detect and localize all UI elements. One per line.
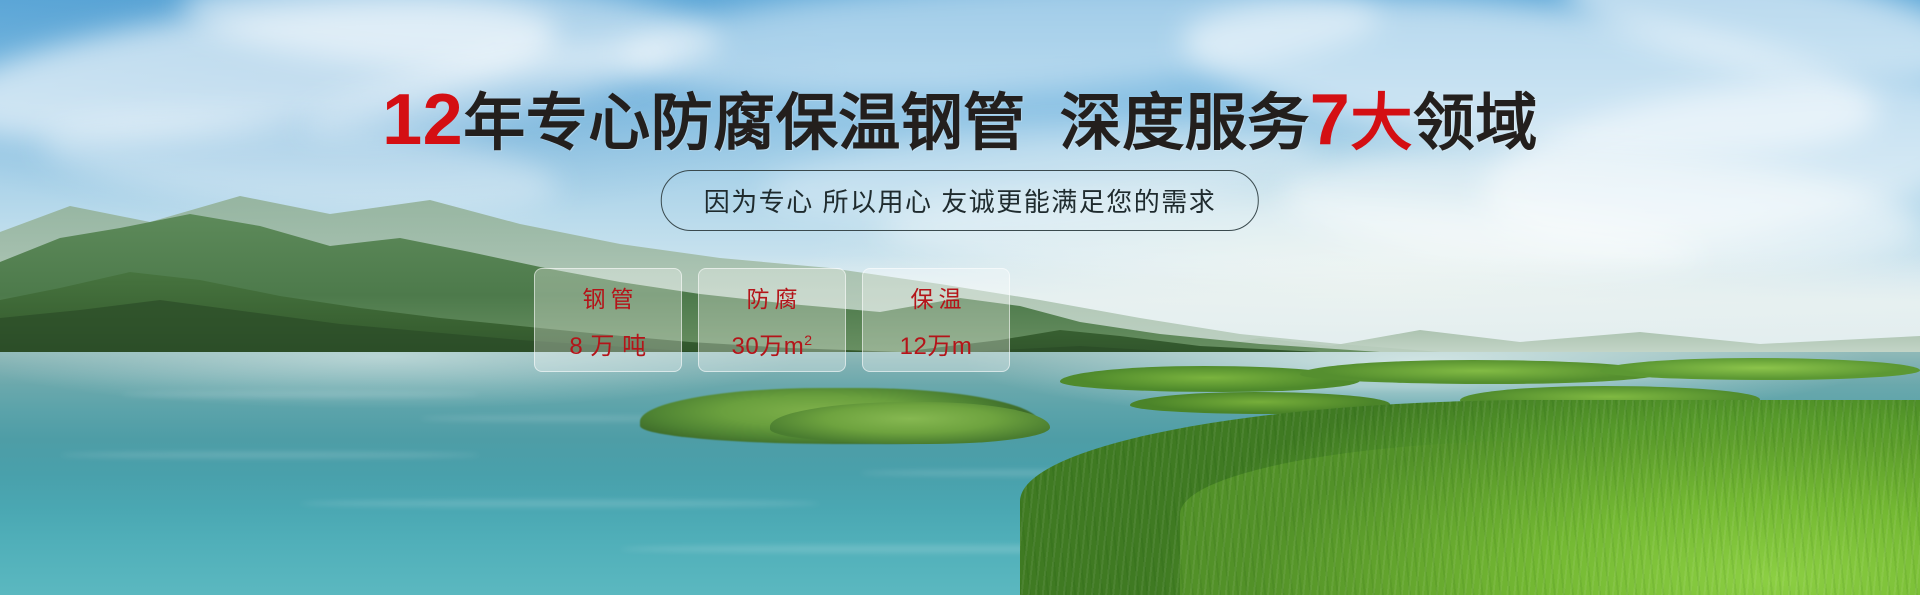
stat-card-insulation: 保温 12万m bbox=[862, 268, 1010, 372]
stat-value-unit: 2 bbox=[804, 332, 812, 348]
stat-label: 钢管 bbox=[578, 280, 639, 314]
stat-value-text: 8 万 吨 bbox=[569, 333, 646, 360]
stat-label: 保温 bbox=[906, 280, 967, 314]
stat-value: 8 万 吨 bbox=[569, 326, 646, 361]
headline-part-four: 领域 bbox=[1413, 89, 1538, 158]
headline-part-two: 深度服务 bbox=[1060, 89, 1310, 158]
headline-part-three: 大 bbox=[1350, 89, 1413, 158]
headline: 12年专心防腐保温钢管深度服务7大领域 bbox=[0, 84, 1920, 156]
stat-value: 12万m bbox=[900, 326, 973, 361]
stat-value: 30万m2 bbox=[732, 326, 813, 361]
promo-banner: 12年专心防腐保温钢管深度服务7大领域 因为专心 所以用心 友诚更能满足您的需求… bbox=[0, 0, 1920, 595]
stat-card-anticorrosion: 防腐 30万m2 bbox=[698, 268, 846, 372]
stat-label: 防腐 bbox=[742, 280, 803, 314]
headline-fields-number: 7 bbox=[1310, 80, 1351, 160]
headline-years-number: 12 bbox=[382, 80, 463, 160]
stat-value-text: 30万m bbox=[732, 333, 805, 360]
stat-card-steel-pipe: 钢管 8 万 吨 bbox=[534, 268, 682, 372]
stat-card-group: 钢管 8 万 吨 防腐 30万m2 保温 12万m bbox=[534, 268, 1010, 372]
headline-part-one: 年专心防腐保温钢管 bbox=[463, 89, 1026, 158]
banner-content: 12年专心防腐保温钢管深度服务7大领域 因为专心 所以用心 友诚更能满足您的需求… bbox=[0, 0, 1920, 595]
subtitle-pill: 因为专心 所以用心 友诚更能满足您的需求 bbox=[661, 170, 1259, 231]
stat-value-text: 12万m bbox=[900, 333, 973, 360]
